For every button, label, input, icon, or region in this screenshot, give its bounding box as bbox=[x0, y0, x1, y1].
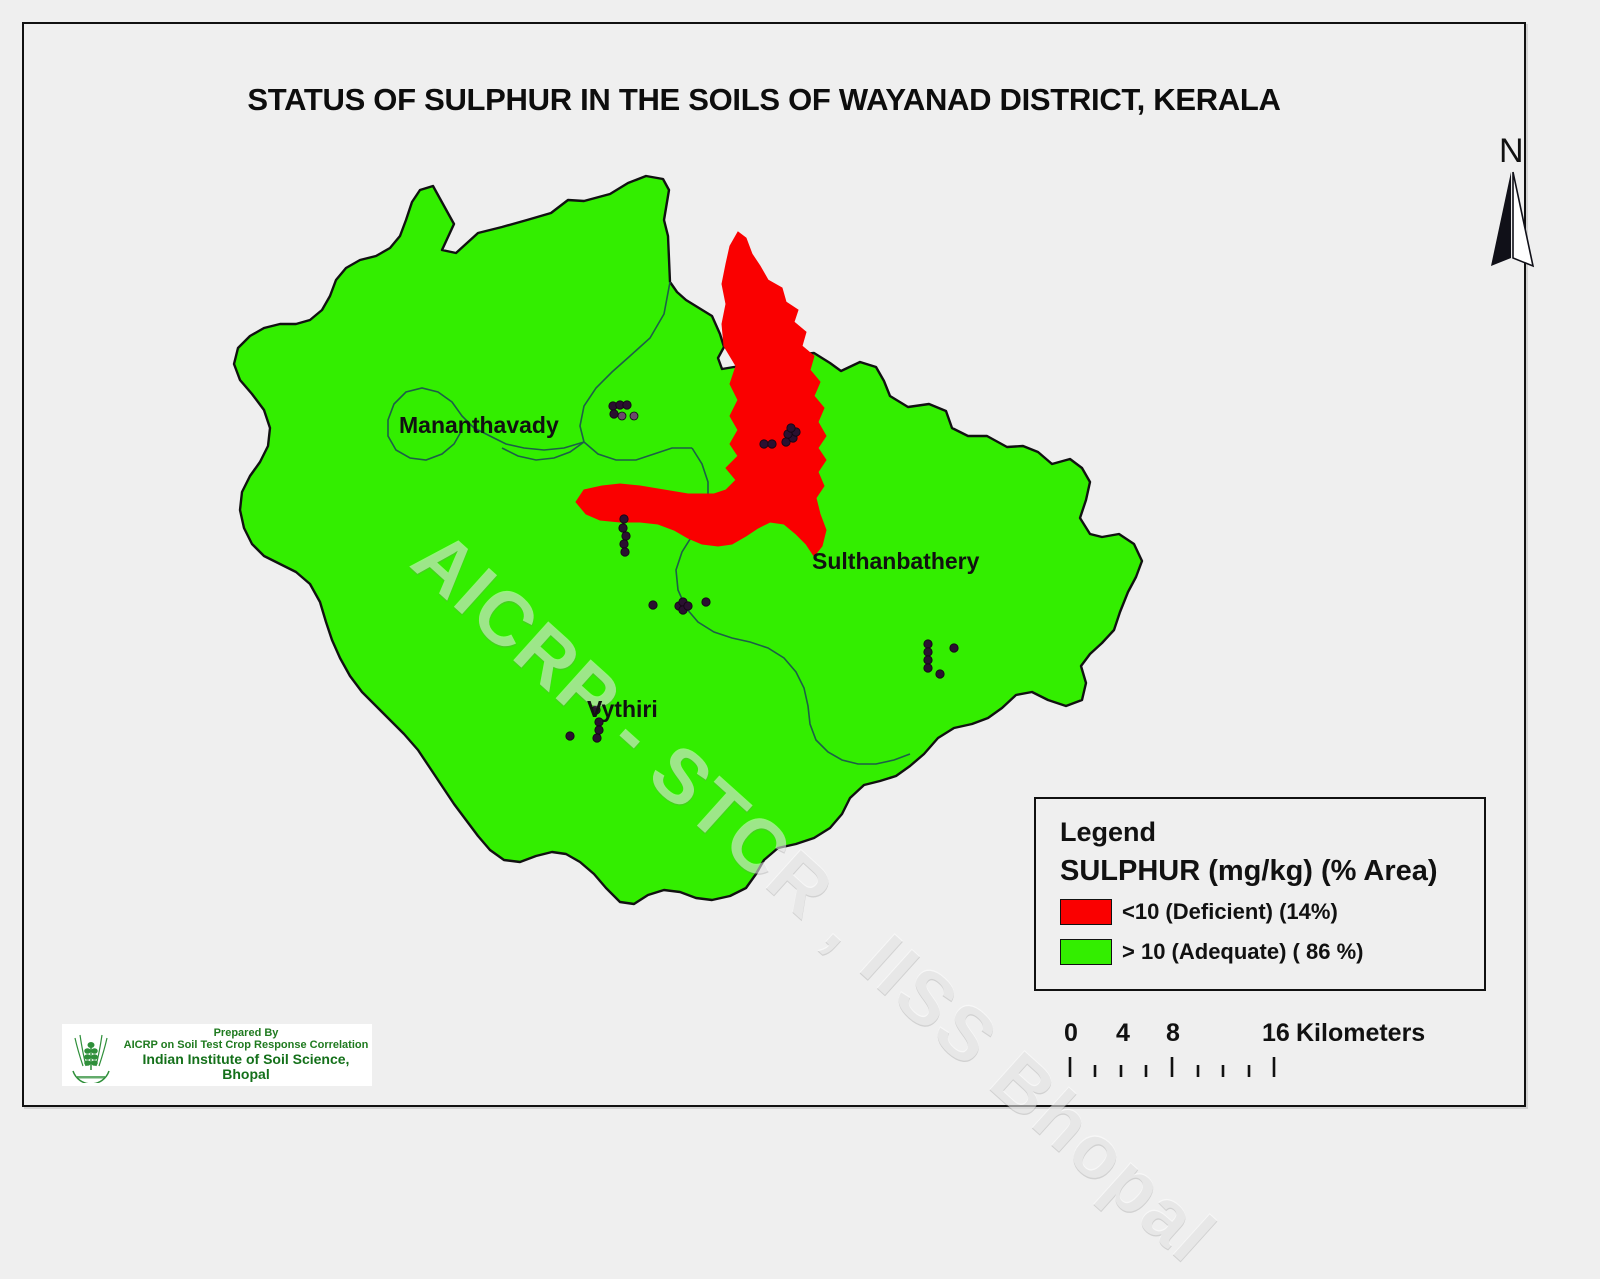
scale-bar-labels: 0 4 8 16 Kilometers bbox=[1034, 1019, 1504, 1053]
legend-label-adequate: > 10 (Adequate) ( 86 %) bbox=[1122, 939, 1363, 965]
legend-swatch-deficient bbox=[1060, 899, 1112, 925]
legend-item-adequate: > 10 (Adequate) ( 86 %) bbox=[1060, 939, 1363, 965]
credits-text: Prepared By AICRP on Soil Test Crop Resp… bbox=[120, 1027, 372, 1083]
wayanad-district-shape bbox=[234, 176, 1142, 904]
credits-box: Prepared By AICRP on Soil Test Crop Resp… bbox=[62, 1024, 372, 1086]
place-label-mananthavady: Mananthavady bbox=[399, 412, 559, 439]
legend-title: Legend bbox=[1060, 817, 1156, 848]
legend: Legend SULPHUR (mg/kg) (% Area) <10 (Def… bbox=[1034, 797, 1486, 991]
scale-bar-unit: Kilometers bbox=[1296, 1019, 1425, 1048]
legend-subtitle: SULPHUR (mg/kg) (% Area) bbox=[1060, 855, 1438, 888]
north-arrow-label: N bbox=[1499, 132, 1524, 171]
scale-tick-label-16: 16 bbox=[1262, 1019, 1290, 1048]
credits-institute: Indian Institute of Soil Science, Bhopal bbox=[120, 1052, 372, 1083]
legend-item-deficient: <10 (Deficient) (14%) bbox=[1060, 899, 1338, 925]
credits-prepared-by: Prepared By bbox=[120, 1027, 372, 1039]
icar-wheat-logo bbox=[66, 1027, 116, 1083]
place-label-sulthanbathery: Sulthanbathery bbox=[812, 548, 979, 575]
scale-tick-label-8: 8 bbox=[1166, 1019, 1180, 1048]
north-arrow-icon bbox=[1479, 170, 1559, 270]
credits-project: AICRP on Soil Test Crop Response Correla… bbox=[120, 1039, 372, 1051]
map-frame: STATUS OF SULPHUR IN THE SOILS OF WAYANA… bbox=[22, 22, 1526, 1107]
scale-bar-ticks bbox=[1034, 1055, 1304, 1081]
district-outline-adequate bbox=[234, 176, 1142, 904]
scale-tick-label-0: 0 bbox=[1064, 1019, 1078, 1048]
page-title: STATUS OF SULPHUR IN THE SOILS OF WAYANA… bbox=[24, 82, 1504, 118]
scale-tick-label-4: 4 bbox=[1116, 1019, 1130, 1048]
legend-swatch-adequate bbox=[1060, 939, 1112, 965]
legend-label-deficient: <10 (Deficient) (14%) bbox=[1122, 899, 1338, 925]
map-page: STATUS OF SULPHUR IN THE SOILS OF WAYANA… bbox=[0, 0, 1600, 1130]
north-arrow: N bbox=[1479, 132, 1559, 262]
scale-bar: 0 4 8 16 Kilometers bbox=[1034, 1019, 1504, 1089]
place-label-vythiri: Vythiri bbox=[587, 696, 658, 723]
